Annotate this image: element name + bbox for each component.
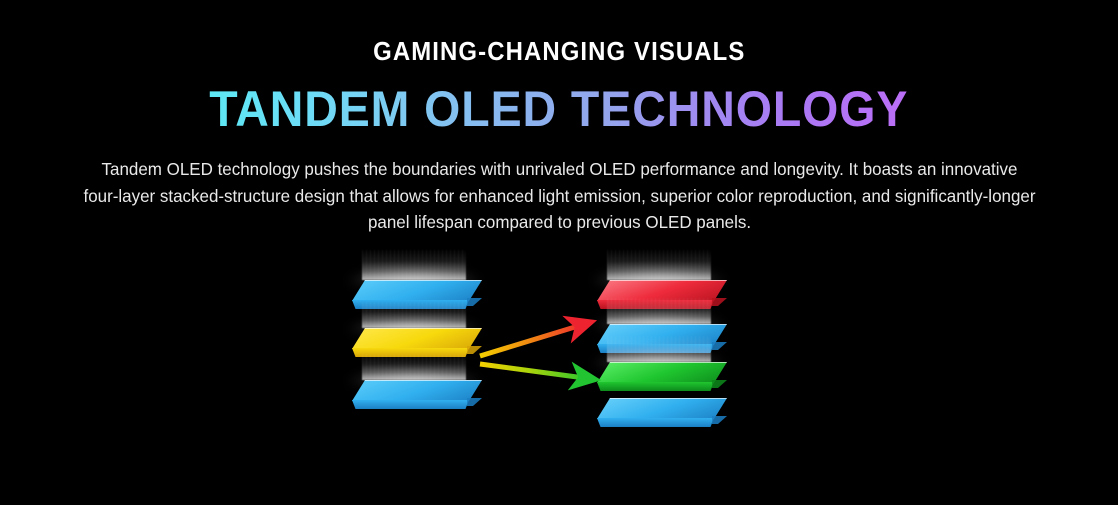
hero-text-block: GAMING-CHANGING VISUALS TANDEM OLED TECH… <box>0 0 1118 236</box>
hero-section: GAMING-CHANGING VISUALS TANDEM OLED TECH… <box>0 0 1118 505</box>
conversion-arrows <box>0 262 1118 432</box>
oled-layer-diagram <box>0 262 1118 432</box>
yellow-to-red-arrow <box>480 323 588 356</box>
page-title: TANDEM OLED TECHNOLOGY <box>209 84 908 134</box>
eyebrow-wrap: GAMING-CHANGING VISUALS <box>0 38 1118 65</box>
hero-description: Tandem OLED technology pushes the bounda… <box>81 156 1036 236</box>
hero-eyebrow: GAMING-CHANGING VISUALS <box>373 38 745 64</box>
yellow-to-green-arrow <box>480 364 592 379</box>
headline-wrap: TANDEM OLED TECHNOLOGY <box>0 65 1118 134</box>
